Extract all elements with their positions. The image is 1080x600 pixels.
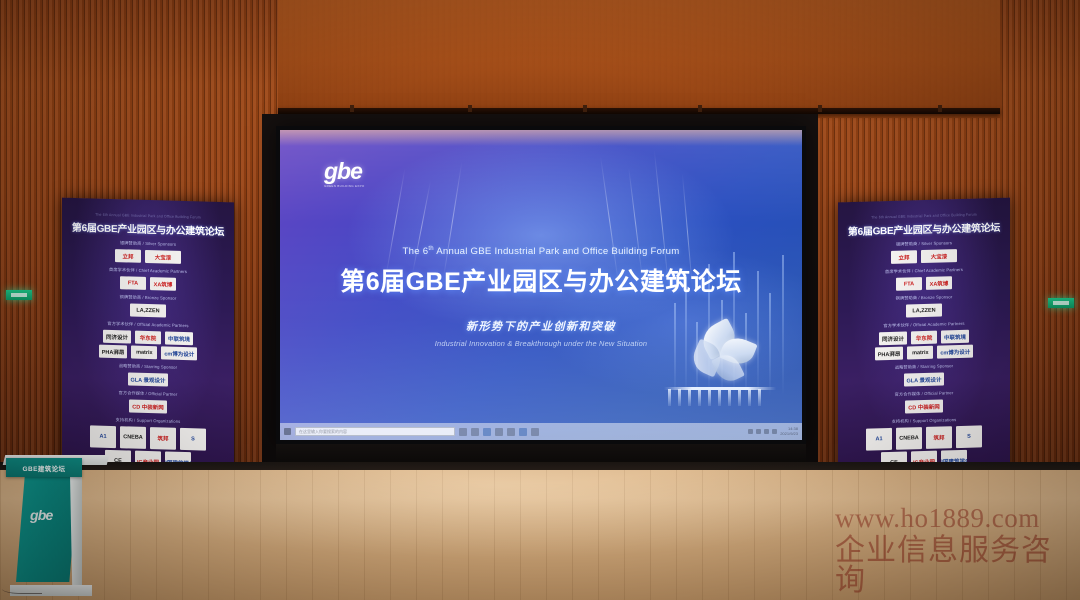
wall-center-panel bbox=[278, 0, 1000, 118]
slide-title-en: The 6th Annual GBE Industrial Park and O… bbox=[280, 246, 802, 257]
banner-logo-row: 立邦 大宝漆 bbox=[846, 248, 1002, 265]
sponsor-logo: XA筑博 bbox=[150, 277, 176, 291]
sponsor-logo: cm博为设计 bbox=[161, 346, 197, 360]
sponsor-logo: S bbox=[956, 425, 982, 448]
app-icon[interactable] bbox=[531, 428, 539, 436]
colonnade-decor bbox=[666, 389, 774, 406]
watermark-url: www.ho1889.com bbox=[835, 505, 1080, 532]
banner-logo-row: A1 CNEBA 筑邦 S bbox=[70, 425, 226, 451]
banner-logo-row: LA,ZZEN bbox=[70, 302, 226, 319]
sponsor-logo: matrix bbox=[907, 346, 933, 360]
network-icon[interactable] bbox=[756, 429, 761, 434]
architectural-sculpture-graphic bbox=[676, 322, 768, 406]
podium-cable bbox=[2, 584, 42, 594]
banner-logo-row: PHA湃昂 matrix cm博为设计 bbox=[846, 344, 1002, 361]
sponsor-logo: 华东院 bbox=[911, 331, 937, 345]
banner-logo-row: A1 CNEBA 筑邦 S bbox=[846, 425, 1002, 451]
explorer-icon[interactable] bbox=[495, 428, 503, 436]
sponsor-logo: 立邦 bbox=[891, 250, 917, 264]
windows-taskbar[interactable]: 在这里输入你要搜索的内容 14:38 2021/9/23 bbox=[280, 423, 802, 440]
sponsor-logo: 同济设计 bbox=[103, 330, 131, 344]
powerpoint-icon[interactable] bbox=[519, 428, 527, 436]
sponsor-logo: 华东院 bbox=[135, 331, 161, 345]
slide-title-en-rest: Annual GBE Industrial Park and Office Bu… bbox=[434, 246, 680, 257]
exit-sign-right bbox=[1048, 298, 1074, 308]
sponsor-logo: 中联筑境 bbox=[941, 330, 969, 344]
banner-logo-row: FTA XA筑博 bbox=[846, 275, 1002, 292]
banner-logo-row: CD 中装新网 bbox=[846, 398, 1002, 415]
slide-logo: gbe GREEN BUILDING EXPO bbox=[324, 160, 365, 188]
sponsor-logo: 中联筑境 bbox=[165, 331, 193, 345]
cortana-icon[interactable] bbox=[471, 428, 479, 436]
sponsor-logo: 筑邦 bbox=[926, 426, 952, 449]
sponsor-logo: cm博为设计 bbox=[937, 345, 973, 359]
sponsor-logo: A1 bbox=[90, 425, 116, 448]
banner-title: 第6届GBE产业园区与办公建筑论坛 bbox=[70, 219, 226, 238]
gbe-tagline: GREEN BUILDING EXPO bbox=[324, 185, 365, 188]
sponsor-logo: CD 中装新网 bbox=[905, 399, 942, 413]
sponsor-banner-left: The 6th Annual GBE Industrial Park and O… bbox=[62, 198, 234, 493]
clock-date: 2021/9/23 bbox=[780, 432, 798, 437]
sponsor-logo: PHA湃昂 bbox=[875, 347, 904, 361]
watermark-tagline: 企业信息服务咨询 bbox=[835, 536, 1080, 596]
exit-sign-left bbox=[6, 290, 32, 300]
banner-logo-row: FTA XA筑博 bbox=[70, 275, 226, 292]
banner-logo-row: GLA 景观设计 bbox=[70, 371, 226, 388]
mail-icon[interactable] bbox=[507, 428, 515, 436]
podium-body bbox=[16, 477, 78, 582]
banner-logo-row: 立邦 大宝漆 bbox=[70, 248, 226, 265]
sponsor-logo: 同济设计 bbox=[879, 331, 907, 345]
podium: gbe GBE建筑论坛 bbox=[4, 455, 108, 600]
sponsor-logo: CD 中装新网 bbox=[129, 399, 166, 413]
sponsor-logo: GLA 景观设计 bbox=[904, 372, 945, 386]
slide-title-en-prefix: The 6 bbox=[403, 246, 429, 257]
banner-title: 第6届GBE产业园区与办公建筑论坛 bbox=[846, 219, 1002, 238]
input-method-icon[interactable] bbox=[772, 429, 777, 434]
sponsor-logo: CNEBA bbox=[896, 427, 922, 450]
sponsor-logo: A1 bbox=[866, 428, 892, 451]
projection-screen: gbe GREEN BUILDING EXPO The 6th Annual G… bbox=[280, 130, 802, 440]
sponsor-logo: LA,ZZEN bbox=[130, 303, 166, 317]
sponsor-logo: S bbox=[180, 428, 206, 451]
podium-sign: GBE建筑论坛 bbox=[6, 458, 82, 477]
sponsor-logo: 大宝漆 bbox=[921, 249, 957, 263]
banner-logo-row: LA,ZZEN bbox=[846, 302, 1002, 319]
search-placeholder: 在这里输入你要搜索的内容 bbox=[299, 429, 347, 435]
banner-logo-row: PHA湃昂 matrix cm博为设计 bbox=[70, 344, 226, 361]
sponsor-logo: matrix bbox=[131, 346, 157, 360]
sponsor-logo: 大宝漆 bbox=[145, 250, 181, 264]
conference-stage-photo: The 6th Annual GBE Industrial Park and O… bbox=[0, 0, 1080, 600]
task-view-icon[interactable] bbox=[459, 428, 467, 436]
sponsor-logo: LA,ZZEN bbox=[906, 303, 942, 317]
sponsor-logo: XA筑博 bbox=[926, 276, 952, 290]
sponsor-logo: CNEBA bbox=[120, 426, 146, 449]
sponsor-logo: GLA 景观设计 bbox=[128, 372, 169, 386]
podium-edge bbox=[70, 475, 82, 585]
banner-logo-row: CD 中装新网 bbox=[70, 398, 226, 415]
system-tray[interactable]: 14:38 2021/9/23 bbox=[748, 427, 798, 436]
tray-chevron-icon[interactable] bbox=[748, 429, 753, 434]
taskbar-clock[interactable]: 14:38 2021/9/23 bbox=[780, 427, 798, 436]
podium-sign-label: GBE建筑论坛 bbox=[23, 463, 66, 473]
sponsor-logo: FTA bbox=[120, 276, 146, 290]
podium-gbe-logo: gbe bbox=[30, 507, 53, 523]
sponsor-logo: PHA湃昂 bbox=[99, 345, 128, 359]
taskbar-search-input[interactable]: 在这里输入你要搜索的内容 bbox=[295, 427, 455, 436]
sponsor-logo: 筑邦 bbox=[150, 427, 176, 450]
edge-icon[interactable] bbox=[483, 428, 491, 436]
volume-icon[interactable] bbox=[764, 429, 769, 434]
sponsor-logo: 立邦 bbox=[115, 249, 141, 263]
gbe-wordmark: gbe bbox=[324, 160, 365, 183]
projection-screen-frame: gbe GREEN BUILDING EXPO The 6th Annual G… bbox=[276, 126, 806, 444]
sponsor-logo: FTA bbox=[896, 277, 922, 291]
watermark: www.ho1889.com 企业信息服务咨询 bbox=[835, 505, 1080, 596]
sponsor-banner-right: The 6th Annual GBE Industrial Park and O… bbox=[838, 198, 1010, 493]
slide-title-cn: 第6届GBE产业园区与办公建筑论坛 bbox=[280, 262, 802, 298]
banner-logo-row: GLA 景观设计 bbox=[846, 371, 1002, 388]
start-button-icon[interactable] bbox=[284, 428, 291, 435]
